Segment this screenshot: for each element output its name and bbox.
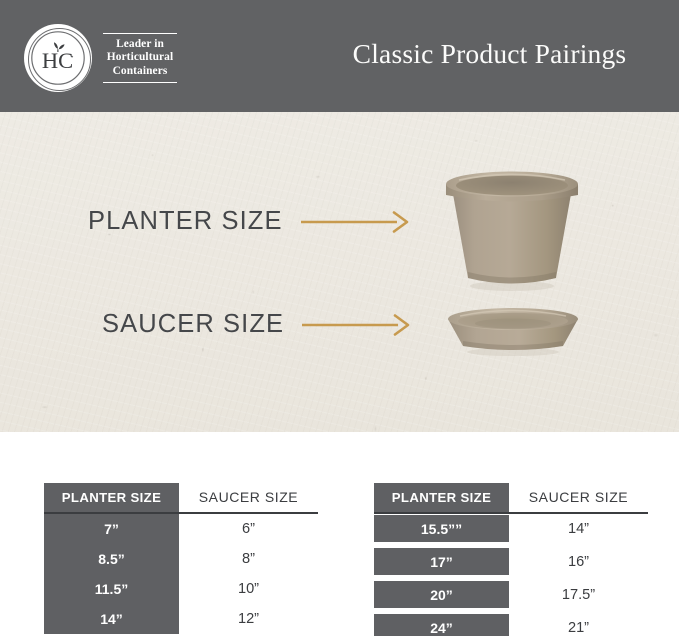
cell-planter-size: 15.5”” [374, 515, 509, 542]
arrow-right-icon [302, 312, 414, 338]
cell-planter-size: 17” [374, 548, 509, 575]
saucer-size-callout: SAUCER SIZE [102, 310, 414, 339]
cell-planter-size: 11.5” [44, 574, 179, 604]
table-row: 15.5”” 14” [374, 514, 648, 544]
hc-logo-icon: HC [24, 24, 92, 92]
table-body: 7” 6” 8.5” 8” 11.5” 10” 14” 12” [44, 514, 318, 634]
table-row: 20” 17.5” [374, 580, 648, 610]
cell-saucer-size: 17.5” [509, 581, 648, 608]
cell-saucer-size: 21” [509, 614, 648, 636]
table-row: 8.5” 8” [44, 544, 318, 574]
table-row: 11.5” 10” [44, 574, 318, 604]
saucer-dish-icon [440, 303, 586, 362]
arrow-right-icon [301, 209, 413, 235]
table-row: 7” 6” [44, 514, 318, 544]
cell-planter-size: 7” [44, 514, 179, 544]
hero-section: PLANTER SIZE SAUCER SIZE [0, 112, 679, 432]
planter-pot-svg [437, 168, 587, 292]
table-body: 15.5”” 14” 17” 16” 20” 17.5” 24” 21” [374, 514, 648, 636]
cell-planter-size: 14” [44, 604, 179, 634]
table-row: 24” 21” [374, 613, 648, 636]
column-header-planter-size: PLANTER SIZE [374, 483, 509, 512]
cell-saucer-size: 14” [509, 515, 648, 542]
planter-size-callout: PLANTER SIZE [88, 207, 413, 236]
saucer-dish-svg [440, 303, 586, 357]
tagline-rule-bottom [103, 82, 177, 83]
table-header-row: PLANTER SIZE SAUCER SIZE [374, 483, 648, 512]
brand-tagline: Leader in Horticultural Containers [103, 33, 177, 83]
column-header-planter-size: PLANTER SIZE [44, 483, 179, 512]
cell-saucer-size: 12” [179, 604, 318, 634]
table-row: 14” 12” [44, 604, 318, 634]
infographic-page: HC Leader in Horticultural Containers Cl… [0, 0, 679, 636]
logo-monogram-svg: HC [31, 31, 85, 85]
saucer-size-label: SAUCER SIZE [102, 310, 284, 339]
brand-lockup: HC Leader in Horticultural Containers [24, 24, 177, 92]
cell-saucer-size: 8” [179, 544, 318, 574]
planter-size-label: PLANTER SIZE [88, 207, 283, 236]
size-table-large: PLANTER SIZE SAUCER SIZE 15.5”” 14” 17” … [374, 483, 648, 636]
table-header-row: PLANTER SIZE SAUCER SIZE [44, 483, 318, 512]
cell-saucer-size: 16” [509, 548, 648, 575]
cell-planter-size: 24” [374, 614, 509, 636]
table-row: 17” 16” [374, 547, 648, 577]
tagline-text: Leader in Horticultural Containers [107, 37, 173, 79]
page-title: Classic Product Pairings [300, 0, 679, 112]
cell-saucer-size: 10” [179, 574, 318, 604]
planter-pot-icon [437, 168, 587, 297]
tagline-rule-top [103, 33, 177, 34]
size-table-small: PLANTER SIZE SAUCER SIZE 7” 6” 8.5” 8” 1… [44, 483, 318, 634]
cell-saucer-size: 6” [179, 514, 318, 544]
svg-text:HC: HC [42, 48, 73, 73]
page-header: HC Leader in Horticultural Containers Cl… [0, 0, 679, 112]
cell-planter-size: 8.5” [44, 544, 179, 574]
column-header-saucer-size: SAUCER SIZE [509, 483, 648, 512]
cell-planter-size: 20” [374, 581, 509, 608]
column-header-saucer-size: SAUCER SIZE [179, 483, 318, 512]
